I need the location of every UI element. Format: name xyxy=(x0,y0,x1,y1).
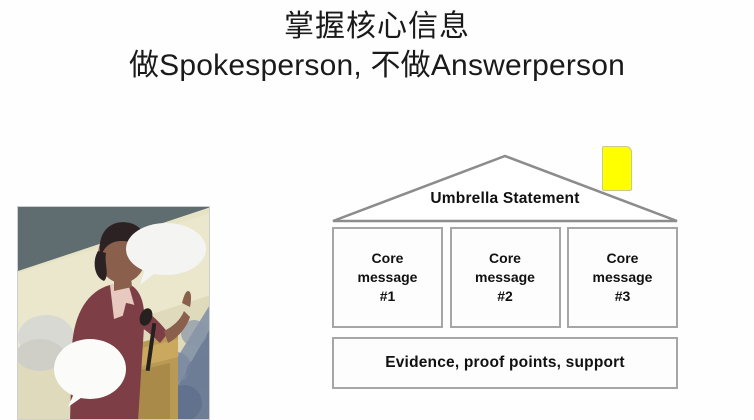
title-line-primary: 掌握核心信息 xyxy=(0,8,754,46)
umbrella-statement-label: Umbrella Statement xyxy=(330,190,680,208)
core-message-box-3[interactable]: Core message #3 xyxy=(567,227,678,328)
evidence-box[interactable]: Evidence, proof points, support xyxy=(332,337,678,389)
message-house-diagram: Umbrella Statement Core message #1 Core … xyxy=(330,140,680,400)
title-line-secondary: 做Spokesperson, 不做Answerperson xyxy=(0,46,754,86)
core-message-label-2: Core message #2 xyxy=(475,249,535,306)
evidence-label: Evidence, proof points, support xyxy=(385,354,625,372)
core-message-label-3: Core message #3 xyxy=(593,249,653,306)
speaker-illustration xyxy=(17,206,210,420)
core-message-box-2[interactable]: Core message #2 xyxy=(450,227,561,328)
speaker-illustration-svg xyxy=(18,207,210,420)
core-message-row: Core message #1 Core message #2 Core mes… xyxy=(332,227,678,328)
page-title: 掌握核心信息 做Spokesperson, 不做Answerperson xyxy=(0,8,754,86)
core-message-box-1[interactable]: Core message #1 xyxy=(332,227,443,328)
core-message-label-1: Core message #1 xyxy=(358,249,418,306)
sticky-note[interactable] xyxy=(602,146,632,191)
